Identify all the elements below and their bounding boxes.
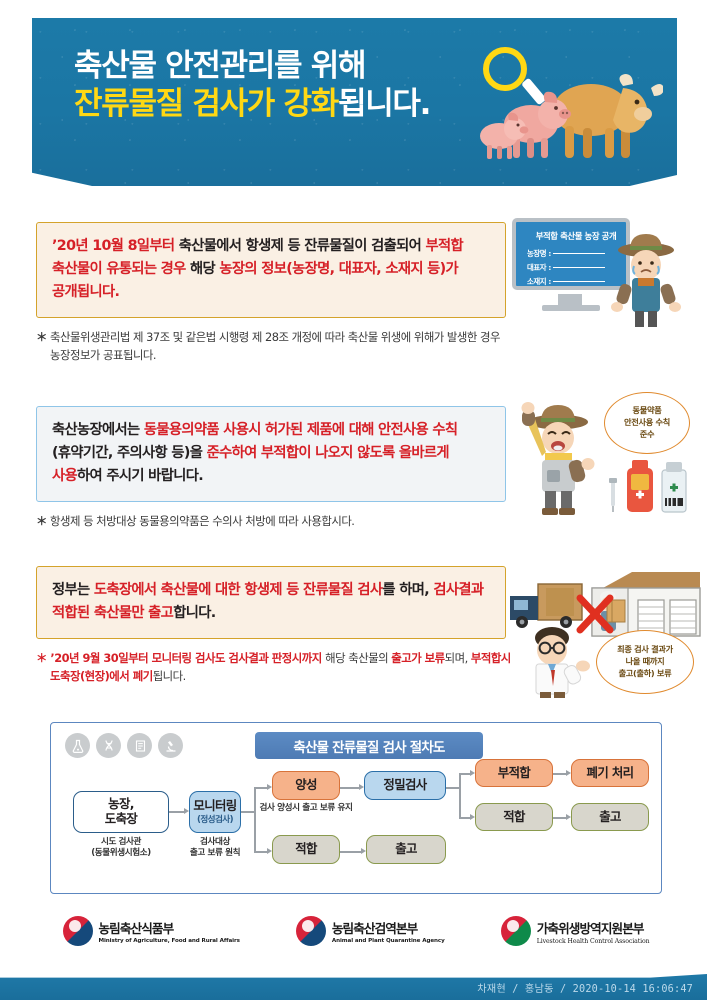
text-run: 합니다. xyxy=(173,605,215,621)
logo-name-en: Animal and Plant Quarantine Agency xyxy=(332,938,445,944)
section-slaughterhouse: 정부는 도축장에서 축산물에 대한 항생제 등 잔류물질 검사를 하며, 검사결… xyxy=(36,566,676,686)
flow-node-label: 모니터링 xyxy=(193,799,236,814)
section-safe-use: 축산농장에서는 동물용의약품 사용시 허가된 제품에 대해 안전사용 수칙(휴약… xyxy=(36,406,676,531)
flow-node-monitoring[interactable]: 모니터링 (정성검사) xyxy=(189,791,241,833)
flow-node-release-1[interactable]: 출고 xyxy=(366,835,446,864)
footnote-disclosure: ＊ 축산물위생관리법 제 37조 및 같은법 시행령 제 28조 개정에 따라 … xyxy=(36,329,514,364)
text-run: 항생제 등 처방대상 동물용의약품은 수의사 처방에 따라 사용합시다. xyxy=(47,514,355,528)
logo-apqa: 농림축산검역본부 Animal and Plant Quarantine Age… xyxy=(296,916,445,946)
text-run: 됩니다. xyxy=(153,669,186,683)
monitor-row: 농장명 : xyxy=(527,248,605,259)
headline-line2-yellow: 잔류물질 검사가 강화 xyxy=(74,86,338,122)
veterinary-medicine-icons xyxy=(608,454,692,514)
header-banner: 축산물 안전관리를 위해 잔류물질 검사가 강화됩니다. xyxy=(32,18,677,186)
flow-node-label: 농장, 도축장 xyxy=(105,797,137,827)
diagram-title: 축산물 잔류물질 검사 절차도 xyxy=(255,732,483,759)
speech-bubble-hold-release: 최종 검사 결과가 나올 때까지 출고(출하) 보류 xyxy=(596,630,694,694)
logo-lhca: 가축위생방역지원본부 Livestock Health Control Asso… xyxy=(501,916,650,946)
headline-line1-tail: 를 위해 xyxy=(274,48,365,84)
flow-node-positive[interactable]: 양성 xyxy=(272,771,340,800)
headline-line-1: 축산물 안전관리를 위해 xyxy=(74,48,430,86)
poster-root: 축산물 안전관리를 위해 잔류물질 검사가 강화됩니다. xyxy=(0,0,707,1000)
footnote-star: ＊ xyxy=(36,330,47,344)
flow-node-label: 정밀검사 xyxy=(383,778,426,793)
flow-node-fail[interactable]: 부적합 xyxy=(475,759,553,787)
section-disclosure: ’20년 10월 8일부터 축산물에서 항생제 등 잔류물질이 검출되어 부적합… xyxy=(36,222,676,365)
farmer-with-medicine-illustration: 동물약품 안전사용 수칙 준수 xyxy=(512,392,692,522)
logo-mafra: 농림축산식품부 Ministry of Agriculture, Food an… xyxy=(63,916,240,946)
callout-slaughterhouse: 정부는 도축장에서 축산물에 대한 항생제 등 잔류물질 검사를 하며, 검사결… xyxy=(36,566,506,639)
footnote-safe-use: ＊ 항생제 등 처방대상 동물용의약품은 수의사 처방에 따라 사용합시다. xyxy=(36,513,514,531)
speech-bubble-text: 동물약품 안전사용 수칙 준수 xyxy=(624,405,670,441)
headline-line1-white: 축산물 안전관리 xyxy=(74,48,274,84)
flow-node-label: 출고 xyxy=(599,810,621,825)
flow-node-sublabel: (정성검사) xyxy=(197,815,233,825)
document-icon xyxy=(127,733,152,758)
headline-line2-white: 됩니다. xyxy=(338,86,430,122)
text-run: 축산농장에서는 xyxy=(52,422,144,438)
happy-farmer-figure-icon xyxy=(512,398,608,516)
text-run: 출고가 보류 xyxy=(391,651,444,665)
text-run: 도축장에서 축산물에 대한 항생제 등 잔류물질 검사 xyxy=(94,582,383,598)
farmer-with-monitor-illustration: 부적합 축산물 농장 공개 농장명 : 대표자 : 소재지 : xyxy=(512,218,682,328)
flow-node-detail-test[interactable]: 정밀검사 xyxy=(364,771,446,800)
flow-node-label: 양성 xyxy=(295,778,317,793)
monitor-row: 대표자 : xyxy=(527,262,605,273)
text-run: 정부는 xyxy=(52,582,94,598)
text-run: 축산물위생관리법 제 37조 및 같은법 시행령 제 28조 개정에 따라 축산… xyxy=(47,330,500,362)
flow-caption-farm: 시도 검사관 (동물위생시험소) xyxy=(73,837,169,859)
flow-node-farm[interactable]: 농장, 도축장 xyxy=(73,791,169,833)
cow-and-pigs-icon xyxy=(473,52,663,172)
text-run: 를 하며, xyxy=(382,582,433,598)
inspector-truck-warehouse-illustration: 최종 검사 결과가 나올 때까지 출고(출하) 보류 xyxy=(504,552,704,698)
flow-node-label: 폐기 처리 xyxy=(587,766,634,781)
flow-node-label: 출고 xyxy=(395,842,417,857)
flow-caption-monitoring: 검사대상 출고 보류 원칙 xyxy=(181,837,249,859)
callout-safe-use: 축산농장에서는 동물용의약품 사용시 허가된 제품에 대해 안전사용 수칙(휴약… xyxy=(36,406,506,502)
page-title: 축산물 안전관리를 위해 잔류물질 검사가 강화됩니다. xyxy=(74,48,430,124)
text-run: 해당 축산물의 xyxy=(325,651,391,665)
text-run: 되며, xyxy=(445,651,471,665)
logo-name-en: Ministry of Agriculture, Food and Rural … xyxy=(99,938,240,944)
text-run: (휴약기간, 주의사항 등)을 xyxy=(52,445,207,461)
logo-name-en: Livestock Health Control Association xyxy=(537,938,650,945)
monitor-row: 소재지 : xyxy=(527,276,605,287)
sad-farmer-figure-icon xyxy=(608,228,684,328)
text-run: 해당 xyxy=(186,261,220,277)
flow-node-pass-2[interactable]: 적합 xyxy=(475,803,553,831)
flask-icon xyxy=(65,733,90,758)
logo-name-kr: 농림축산검역본부 xyxy=(332,918,445,937)
inspection-procedure-diagram: 축산물 잔류물질 검사 절차도 xyxy=(50,722,662,894)
taeguk-mark-icon xyxy=(296,916,326,946)
flow-node-label: 부적합 xyxy=(498,766,530,781)
text-run: ’20년 10월 8일부터 xyxy=(52,238,174,254)
flow-node-label: 적합 xyxy=(295,842,317,857)
agency-logo-row: 농림축산식품부 Ministry of Agriculture, Food an… xyxy=(50,908,662,954)
taeguk-green-mark-icon xyxy=(501,916,531,946)
callout-text-safe-use: 축산농장에서는 동물용의약품 사용시 허가된 제품에 대해 안전사용 수칙(휴약… xyxy=(52,419,490,488)
microscope-icon xyxy=(158,733,183,758)
text-run: 동물용의약품 사용시 허가된 제품에 대해 안전사용 수칙 xyxy=(144,422,458,438)
diagram-icon-row xyxy=(65,733,183,758)
callout-text-disclosure: ’20년 10월 8일부터 축산물에서 항생제 등 잔류물질이 검출되어 부적합… xyxy=(52,235,490,304)
flow-caption-positive: 검사 양성시 출고 보류 유지 xyxy=(237,803,375,814)
speech-bubble-safe-use: 동물약품 안전사용 수칙 준수 xyxy=(604,392,690,454)
speech-bubble-text: 최종 검사 결과가 나올 때까지 출고(출하) 보류 xyxy=(617,644,673,680)
text-run: 하여 주시기 바랍니다. xyxy=(77,468,203,484)
flow-node-release-2[interactable]: 출고 xyxy=(571,803,649,831)
footnote-star: ＊ xyxy=(36,651,47,665)
footnote-slaughterhouse: ＊ ’20년 9월 30일부터 모니터링 검사도 검사결과 판정시까지 해당 축… xyxy=(36,650,514,685)
flow-node-pass-1[interactable]: 적합 xyxy=(272,835,340,864)
flow-chart: 농장, 도축장 시도 검사관 (동물위생시험소) 모니터링 (정성검사) 검사대… xyxy=(51,765,663,893)
footer-credit-text: 차재현 / 홍남동 / 2020-10-14 16:06:47 xyxy=(477,980,693,995)
flow-node-disposal[interactable]: 폐기 처리 xyxy=(571,759,649,787)
flow-node-label: 적합 xyxy=(503,810,525,825)
callout-text-slaughterhouse: 정부는 도축장에서 축산물에 대한 항생제 등 잔류물질 검사를 하며, 검사결… xyxy=(52,579,490,625)
footnote-star: ＊ xyxy=(36,514,47,528)
dna-icon xyxy=(96,733,121,758)
logo-name-kr: 가축위생방역지원본부 xyxy=(537,918,650,937)
logo-name-kr: 농림축산식품부 xyxy=(99,918,240,937)
text-run: 축산물에서 항생제 등 잔류물질이 검출되어 xyxy=(174,238,425,254)
taeguk-mark-icon xyxy=(63,916,93,946)
text-run: ’20년 9월 30일부터 모니터링 검사도 검사결과 판정시까지 xyxy=(47,651,325,665)
headline-line-2: 잔류물질 검사가 강화됩니다. xyxy=(74,86,430,124)
callout-disclosure: ’20년 10월 8일부터 축산물에서 항생제 등 잔류물질이 검출되어 부적합… xyxy=(36,222,506,318)
